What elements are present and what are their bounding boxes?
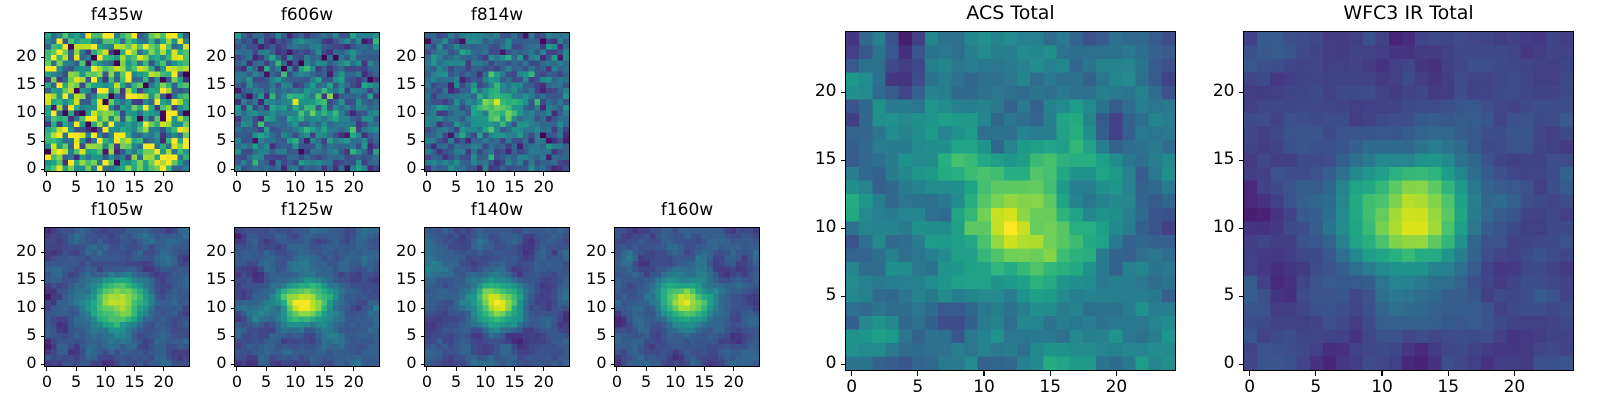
- y-tick-mark: [1239, 160, 1244, 161]
- x-tick-label: 0: [1220, 379, 1280, 396]
- x-tick-label: 5: [1286, 379, 1346, 396]
- x-tick-mark: [1381, 371, 1382, 376]
- y-tick-label: 0: [1175, 355, 1235, 372]
- y-tick-mark: [1239, 228, 1244, 229]
- heatmap-axes[interactable]: [1243, 31, 1574, 371]
- y-tick-mark: [1239, 92, 1244, 93]
- x-tick-mark: [1448, 371, 1449, 376]
- y-tick-label: 20: [1175, 83, 1235, 100]
- x-tick-mark: [1249, 371, 1250, 376]
- y-tick-mark: [1239, 296, 1244, 297]
- y-tick-label: 15: [1175, 151, 1235, 168]
- x-tick-label: 20: [1484, 379, 1544, 396]
- y-tick-label: 10: [1175, 219, 1235, 236]
- x-tick-label: 15: [1418, 379, 1478, 396]
- figure-canvas: f435w0510152005101520f606w05101520051015…: [0, 0, 1600, 400]
- panel-title: WFC3 IR Total: [1243, 4, 1574, 23]
- y-tick-mark: [1239, 364, 1244, 365]
- plot-panel-wfc3-ir-total: WFC3 IR Total0510152005101520: [0, 0, 1600, 400]
- y-tick-label: 5: [1175, 287, 1235, 304]
- x-tick-mark: [1315, 371, 1316, 376]
- x-tick-label: 10: [1352, 379, 1412, 396]
- x-tick-mark: [1514, 371, 1515, 376]
- heatmap-image: [1244, 32, 1573, 370]
